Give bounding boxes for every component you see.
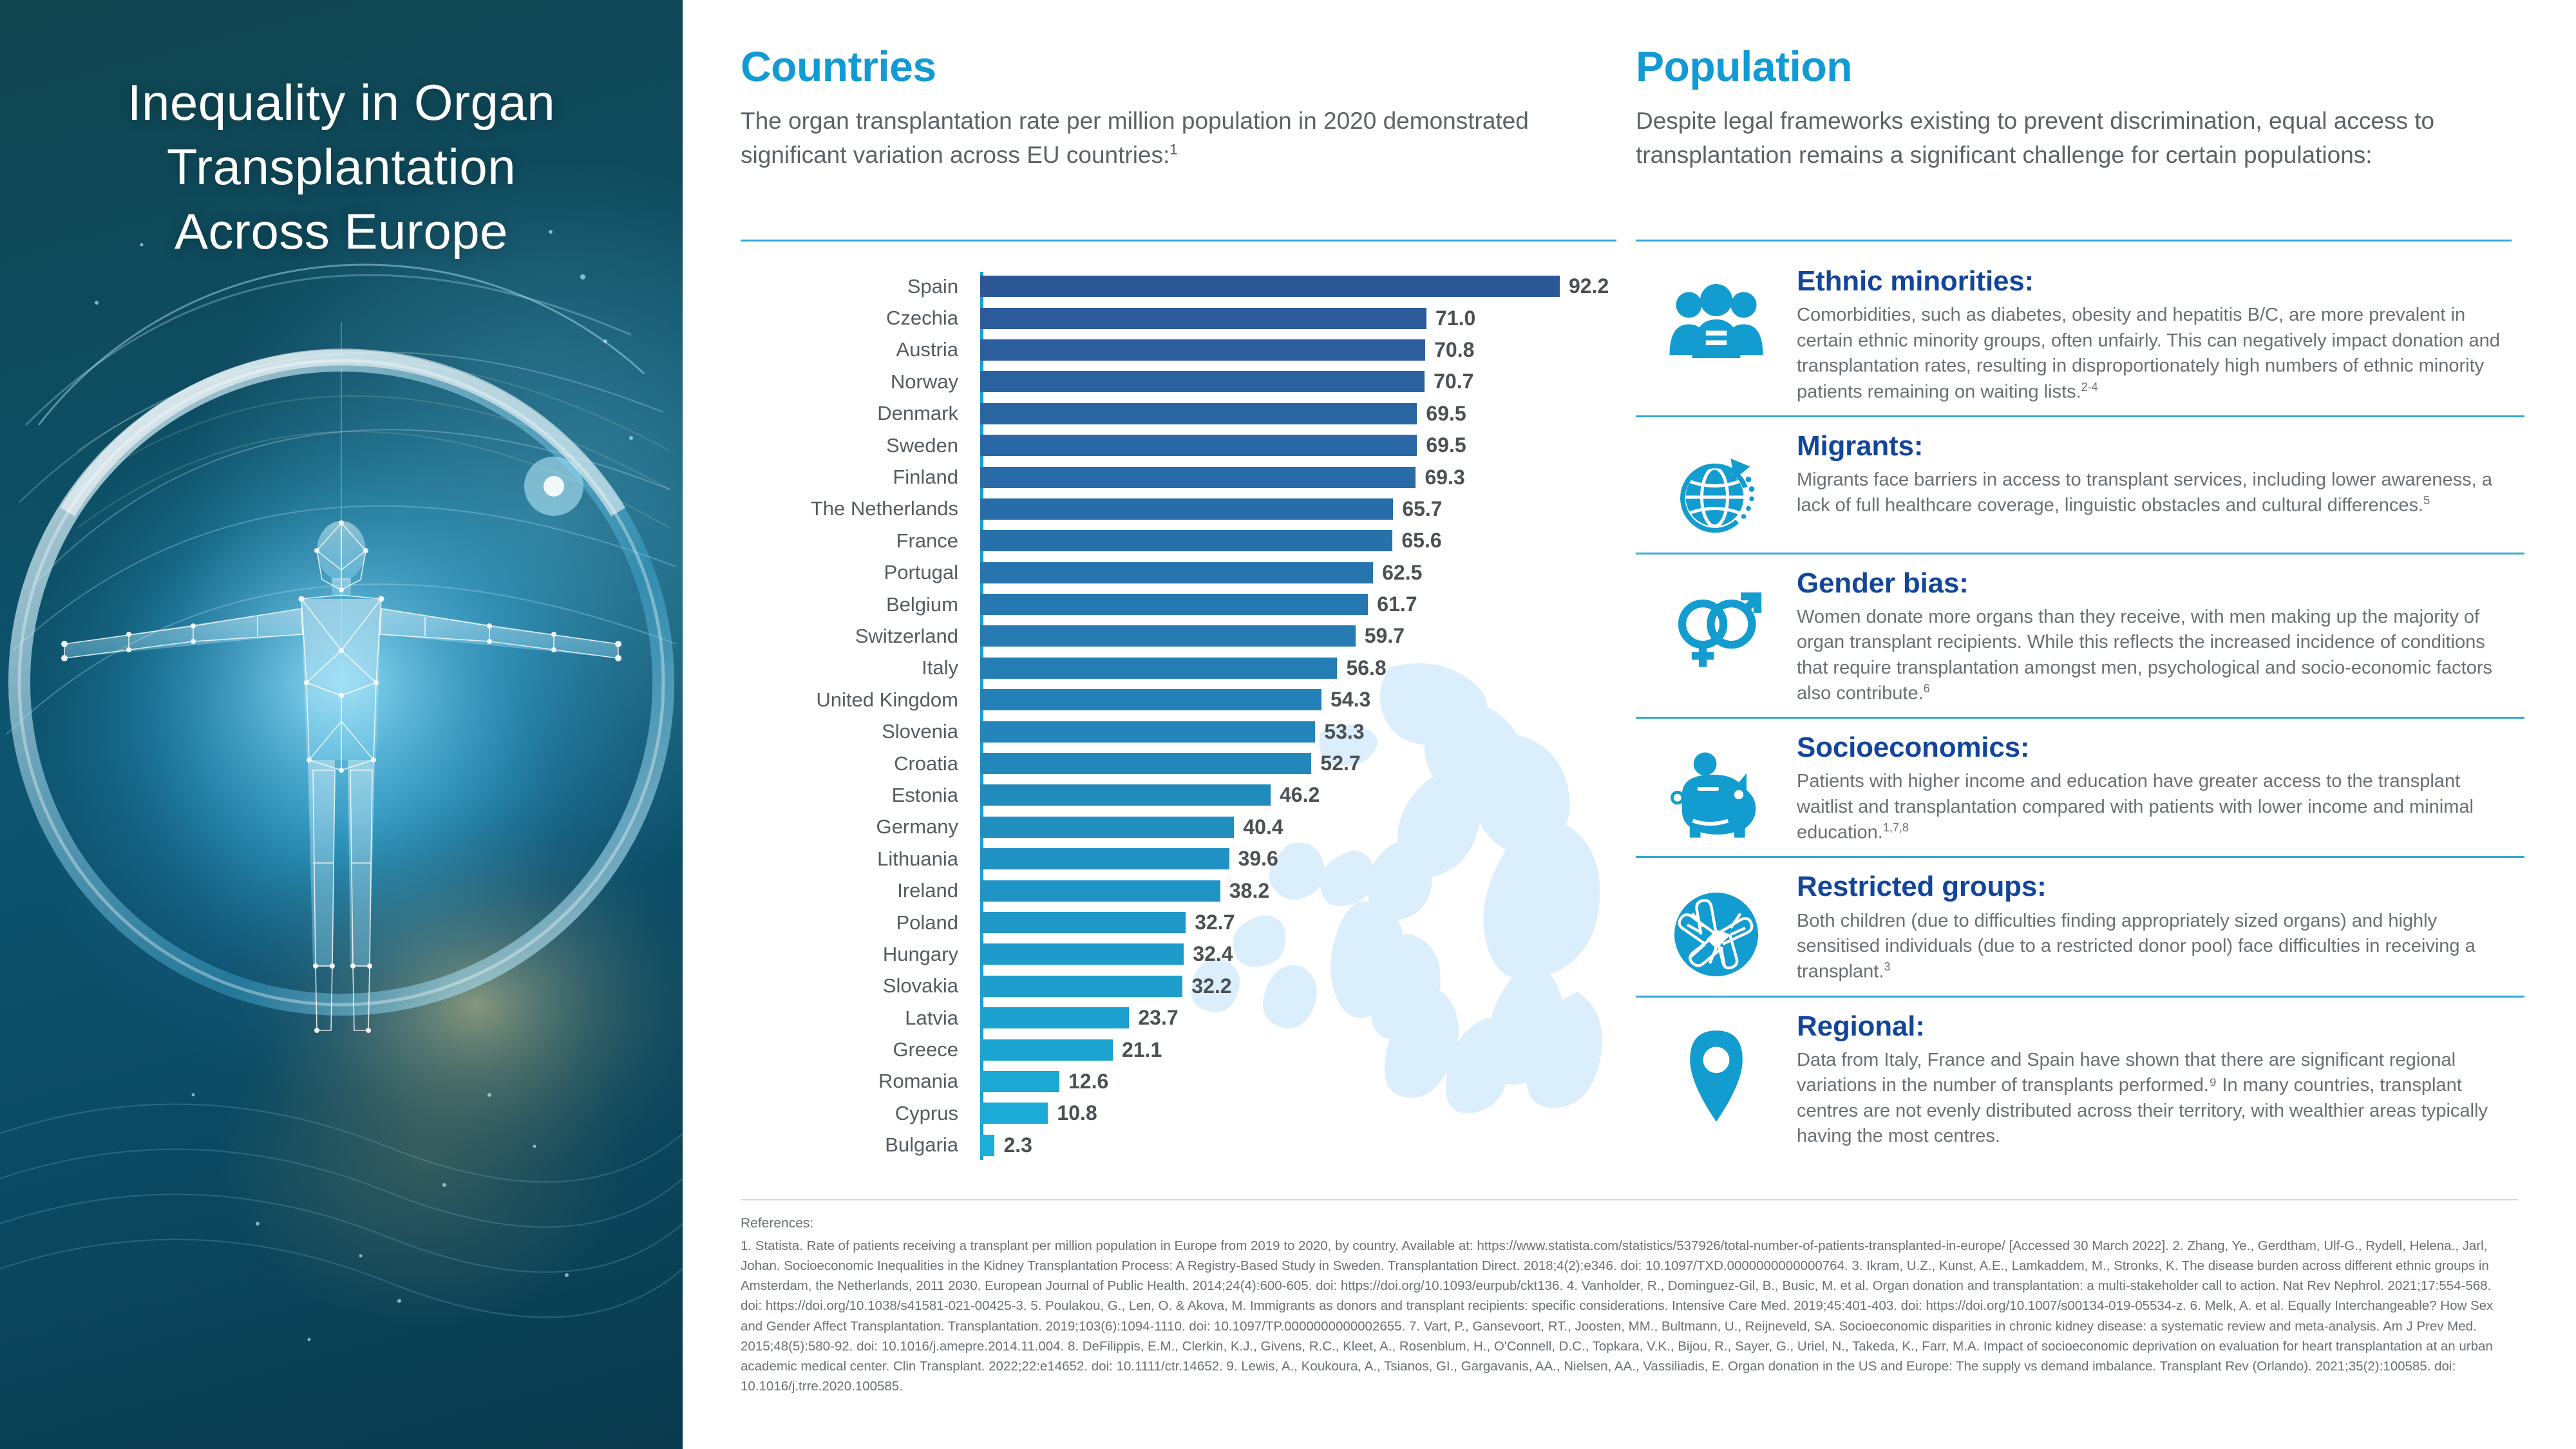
references-block: References: 1. Statista. Rate of patient… <box>741 1216 2505 1396</box>
bar-value-label: 2.3 <box>1003 1133 1032 1157</box>
bar-row: Switzerland59.7 <box>741 620 1642 652</box>
bar-value-label: 46.2 <box>1280 783 1320 807</box>
globe-with-arrow-icon <box>1636 431 1797 542</box>
bar-track: 32.4 <box>972 938 1642 970</box>
bar-category-label: Lithuania <box>741 848 972 871</box>
page-title: Inequality in Organ Transplantation Acro… <box>0 71 683 263</box>
bar-track: 69.5 <box>972 398 1642 430</box>
population-item-superscript: 3 <box>1884 960 1890 973</box>
bar <box>980 435 1417 456</box>
bar-category-label: Switzerland <box>741 625 972 648</box>
countries-subtitle-text: The organ transplantation rate per milli… <box>741 108 1529 168</box>
bar-category-label: The Netherlands <box>741 497 972 520</box>
page-title-line-3: Across Europe <box>0 200 683 264</box>
population-item-body: Socioeconomics:Patients with higher inco… <box>1797 733 2524 846</box>
population-item-body: Migrants:Migrants face barriers in acces… <box>1797 431 2524 542</box>
bar-track: 46.2 <box>972 779 1642 811</box>
bar <box>980 371 1425 392</box>
bar-value-label: 65.6 <box>1401 529 1441 553</box>
bar <box>980 594 1368 615</box>
bar-value-label: 10.8 <box>1057 1101 1097 1125</box>
bar <box>980 530 1392 551</box>
bar-category-label: Ireland <box>741 879 972 902</box>
bar-value-label: 53.3 <box>1324 720 1364 744</box>
bar-category-label: Hungary <box>741 943 972 966</box>
bar <box>980 1071 1059 1092</box>
bar-row: Czechia71.0 <box>741 302 1642 334</box>
population-items-list: Ethnic minorities:Comorbidities, such as… <box>1636 252 2524 1159</box>
bar-row: Slovakia32.2 <box>741 971 1642 1002</box>
population-item-text: Both children (due to difficulties findi… <box>1797 909 2518 985</box>
bar-track: 69.5 <box>972 430 1642 461</box>
bar-value-label: 71.0 <box>1435 307 1475 330</box>
bar <box>980 817 1234 838</box>
bar-value-label: 52.7 <box>1320 752 1360 775</box>
bar-category-label: Cyprus <box>741 1102 972 1125</box>
bar-track: 12.6 <box>972 1066 1642 1097</box>
bar-track: 71.0 <box>972 302 1642 334</box>
bar-track: 69.3 <box>972 461 1642 493</box>
population-item-text-body: Women donate more organs than they recei… <box>1797 607 2492 704</box>
bar-value-label: 54.3 <box>1331 688 1370 712</box>
bar <box>980 784 1271 806</box>
bar-category-label: Poland <box>741 911 972 934</box>
population-item-body: Regional:Data from Italy, France and Spa… <box>1797 1012 2524 1150</box>
hero-panel: Inequality in Organ Transplantation Acro… <box>0 0 683 1449</box>
bar-track: 39.6 <box>972 843 1642 875</box>
bar-value-label: 23.7 <box>1138 1006 1178 1030</box>
bar-row: Portugal62.5 <box>741 557 1642 589</box>
bar <box>980 467 1416 488</box>
bar-value-label: 62.5 <box>1382 561 1422 585</box>
bar-row: Austria70.8 <box>741 334 1642 366</box>
bar-track: 40.4 <box>972 811 1642 843</box>
bar <box>980 403 1417 424</box>
bar-track: 62.5 <box>972 557 1642 589</box>
bar-chart-rows: Spain92.2Czechia71.0Austria70.8Norway70.… <box>741 270 1642 1161</box>
bar <box>980 943 1184 965</box>
bar <box>980 1103 1048 1124</box>
bar-track: 52.7 <box>972 748 1642 779</box>
population-item-text: Comorbidities, such as diabetes, obesity… <box>1797 303 2518 404</box>
bar-value-label: 38.2 <box>1229 879 1269 903</box>
bar-row: Poland32.7 <box>741 907 1642 938</box>
bar-row: Italy56.8 <box>741 652 1642 684</box>
bar <box>980 339 1425 361</box>
bar-value-label: 21.1 <box>1122 1038 1162 1062</box>
bar <box>980 848 1229 869</box>
bar-track: 32.2 <box>972 971 1642 1002</box>
group-of-people-equality-icon <box>1636 267 1797 405</box>
population-item-title: Restricted groups: <box>1797 872 2518 902</box>
bar-category-label: Germany <box>741 815 972 838</box>
bar-category-label: Bulgaria <box>741 1133 972 1157</box>
bar-value-label: 61.7 <box>1377 592 1417 616</box>
population-item-body: Ethnic minorities:Comorbidities, such as… <box>1797 267 2524 405</box>
population-item-body: Restricted groups:Both children (due to … <box>1797 872 2524 985</box>
bar-category-label: Spain <box>741 275 972 298</box>
bar-category-label: Croatia <box>741 752 972 775</box>
population-item-text-body: Both children (due to difficulties findi… <box>1797 911 2476 983</box>
page-title-line-2: Transplantation <box>0 135 683 200</box>
bar-category-label: Portugal <box>741 561 972 584</box>
population-item: Restricted groups:Both children (due to … <box>1636 856 2524 995</box>
bar-category-label: Slovenia <box>741 720 972 743</box>
bar-row: Croatia52.7 <box>741 748 1642 779</box>
population-item: Socioeconomics:Patients with higher inco… <box>1636 717 2524 856</box>
bar-value-label: 40.4 <box>1243 815 1283 839</box>
population-item: Migrants:Migrants face barriers in acces… <box>1636 415 2524 553</box>
bar <box>980 1135 994 1156</box>
population-item-title: Regional: <box>1797 1012 2518 1041</box>
page-title-line-1: Inequality in Organ <box>0 71 683 135</box>
bar-category-label: Greece <box>741 1038 972 1061</box>
bar-value-label: 69.3 <box>1425 466 1464 489</box>
location-pin-icon <box>1636 1012 1797 1150</box>
bar-category-label: Sweden <box>741 434 972 457</box>
bar <box>980 880 1220 902</box>
transplant-rate-bar-chart: Spain92.2Czechia71.0Austria70.8Norway70.… <box>741 270 1642 1161</box>
bar-track: 65.6 <box>972 525 1642 556</box>
bar-category-label: Czechia <box>741 307 972 330</box>
population-item: Ethnic minorities:Comorbidities, such as… <box>1636 252 2524 415</box>
bar-track: 53.3 <box>972 715 1642 747</box>
population-item-superscript: 2-4 <box>2081 381 2098 393</box>
population-item-superscript: 1,7,8 <box>1883 821 1909 834</box>
bar-track: 92.2 <box>972 270 1642 302</box>
bar-row: Germany40.4 <box>741 811 1642 843</box>
bar-value-label: 69.5 <box>1426 433 1466 457</box>
gender-symbols-icon <box>1636 569 1797 707</box>
bar-value-label: 32.2 <box>1191 974 1231 998</box>
bar-row: United Kingdom54.3 <box>741 684 1642 715</box>
bar-row: Slovenia53.3 <box>741 715 1642 747</box>
population-item: Gender bias:Women donate more organs tha… <box>1636 553 2524 717</box>
bar-value-label: 12.6 <box>1068 1070 1108 1094</box>
bar-value-label: 32.4 <box>1193 942 1233 966</box>
bar-row: The Netherlands65.7 <box>741 493 1642 525</box>
bar-row: Spain92.2 <box>741 270 1642 302</box>
population-item-text-body: Comorbidities, such as diabetes, obesity… <box>1797 305 2500 402</box>
bar-row: Romania12.6 <box>741 1066 1642 1097</box>
population-heading: Population <box>1636 45 2512 88</box>
countries-subtitle: The organ transplantation rate per milli… <box>741 104 1616 172</box>
bar-category-label: Austria <box>741 338 972 361</box>
content-area: Countries The organ transplantation rate… <box>683 0 2576 1449</box>
bar-track: 70.8 <box>972 334 1642 366</box>
bar-track: 56.8 <box>972 652 1642 684</box>
bar <box>980 276 1560 297</box>
references-divider <box>741 1199 2518 1200</box>
bar-track: 10.8 <box>972 1097 1642 1129</box>
bar-track: 70.7 <box>972 366 1642 397</box>
bar-row: Estonia46.2 <box>741 779 1642 811</box>
bar-track: 2.3 <box>972 1130 1642 1161</box>
population-item-text: Patients with higher income and educatio… <box>1797 769 2518 846</box>
countries-column: Countries The organ transplantation rate… <box>741 45 1616 172</box>
bar-track: 54.3 <box>972 684 1642 715</box>
population-item-text: Women donate more organs than they recei… <box>1797 605 2518 706</box>
bar-value-label: 32.7 <box>1195 911 1235 934</box>
bar-row: Sweden69.5 <box>741 430 1642 461</box>
bar <box>980 562 1373 583</box>
bar <box>980 658 1337 679</box>
bar-value-label: 59.7 <box>1365 624 1405 648</box>
countries-divider <box>741 240 1616 241</box>
bar <box>980 1007 1129 1028</box>
bar-value-label: 65.7 <box>1402 497 1442 521</box>
population-item-title: Gender bias: <box>1797 569 2518 598</box>
bar <box>980 1039 1113 1061</box>
bar-value-label: 39.6 <box>1238 847 1278 871</box>
bar-category-label: France <box>741 529 972 553</box>
references-title: References: <box>741 1216 2505 1231</box>
references-body: 1. Statista. Rate of patients receiving … <box>741 1236 2505 1396</box>
countries-subtitle-superscript: 1 <box>1170 141 1177 157</box>
bar-row: Latvia23.7 <box>741 1002 1642 1034</box>
bar-row: Norway70.7 <box>741 366 1642 397</box>
bar-value-label: 69.5 <box>1426 402 1466 426</box>
bar-row: Denmark69.5 <box>741 398 1642 430</box>
bar <box>980 498 1393 520</box>
population-item-text-body: Migrants face barriers in access to tran… <box>1797 469 2492 516</box>
population-item-body: Gender bias:Women donate more organs tha… <box>1797 569 2524 707</box>
bar-track: 23.7 <box>972 1002 1642 1034</box>
bar-category-label: Denmark <box>741 402 972 425</box>
bar <box>980 976 1182 997</box>
bar-category-label: Latvia <box>741 1007 972 1030</box>
population-item-text: Migrants face barriers in access to tran… <box>1797 468 2518 519</box>
bar-category-label: United Kingdom <box>741 688 972 712</box>
bar-row: Greece21.1 <box>741 1034 1642 1065</box>
bar-row: Ireland38.2 <box>741 875 1642 906</box>
bar <box>980 912 1186 933</box>
countries-heading: Countries <box>741 45 1616 88</box>
bar-row: Lithuania39.6 <box>741 843 1642 875</box>
population-item-title: Ethnic minorities: <box>1797 267 2518 296</box>
bar-category-label: Slovakia <box>741 974 972 998</box>
population-item-title: Socioeconomics: <box>1797 733 2518 762</box>
bar-row: Belgium61.7 <box>741 589 1642 620</box>
population-column: Population Despite legal frameworks exis… <box>1636 45 2512 172</box>
population-item: Regional:Data from Italy, France and Spa… <box>1636 996 2524 1160</box>
bar-category-label: Romania <box>741 1070 972 1093</box>
bar-track: 32.7 <box>972 907 1642 938</box>
helping-hands-circle-icon <box>1636 872 1797 985</box>
bar-row: Finland69.3 <box>741 461 1642 493</box>
bar <box>980 308 1426 329</box>
bar-value-label: 70.8 <box>1434 338 1474 362</box>
bar-track: 65.7 <box>972 493 1642 525</box>
bar-category-label: Norway <box>741 370 972 393</box>
bar-row: Bulgaria2.3 <box>741 1130 1642 1161</box>
population-subtitle: Despite legal frameworks existing to pre… <box>1636 104 2512 172</box>
population-item-text-body: Data from Italy, France and Spain have s… <box>1797 1050 2488 1146</box>
population-item-title: Migrants: <box>1797 431 2518 461</box>
bar-row: Hungary32.4 <box>741 938 1642 970</box>
population-item-superscript: 6 <box>1924 682 1930 695</box>
bar-value-label: 70.7 <box>1434 370 1473 393</box>
bar-track: 59.7 <box>972 620 1642 652</box>
infographic-page: Inequality in Organ Transplantation Acro… <box>0 0 2576 1449</box>
bar <box>980 753 1311 774</box>
bar <box>980 721 1315 743</box>
bar-track: 38.2 <box>972 875 1642 906</box>
bar <box>980 625 1356 647</box>
bar-category-label: Belgium <box>741 593 972 616</box>
piggy-bank-icon <box>1636 733 1797 846</box>
bar-value-label: 56.8 <box>1346 656 1386 680</box>
population-divider <box>1636 240 2512 241</box>
bar-row: France65.6 <box>741 525 1642 556</box>
bar-row: Cyprus10.8 <box>741 1097 1642 1129</box>
bar-category-label: Italy <box>741 656 972 679</box>
population-item-text: Data from Italy, France and Spain have s… <box>1797 1048 2518 1150</box>
bar-category-label: Finland <box>741 466 972 489</box>
bar-track: 61.7 <box>972 589 1642 620</box>
bar-value-label: 92.2 <box>1569 274 1609 298</box>
bar <box>980 689 1321 710</box>
bar-track: 21.1 <box>972 1034 1642 1065</box>
population-item-superscript: 5 <box>2423 494 2430 507</box>
bar-category-label: Estonia <box>741 784 972 807</box>
